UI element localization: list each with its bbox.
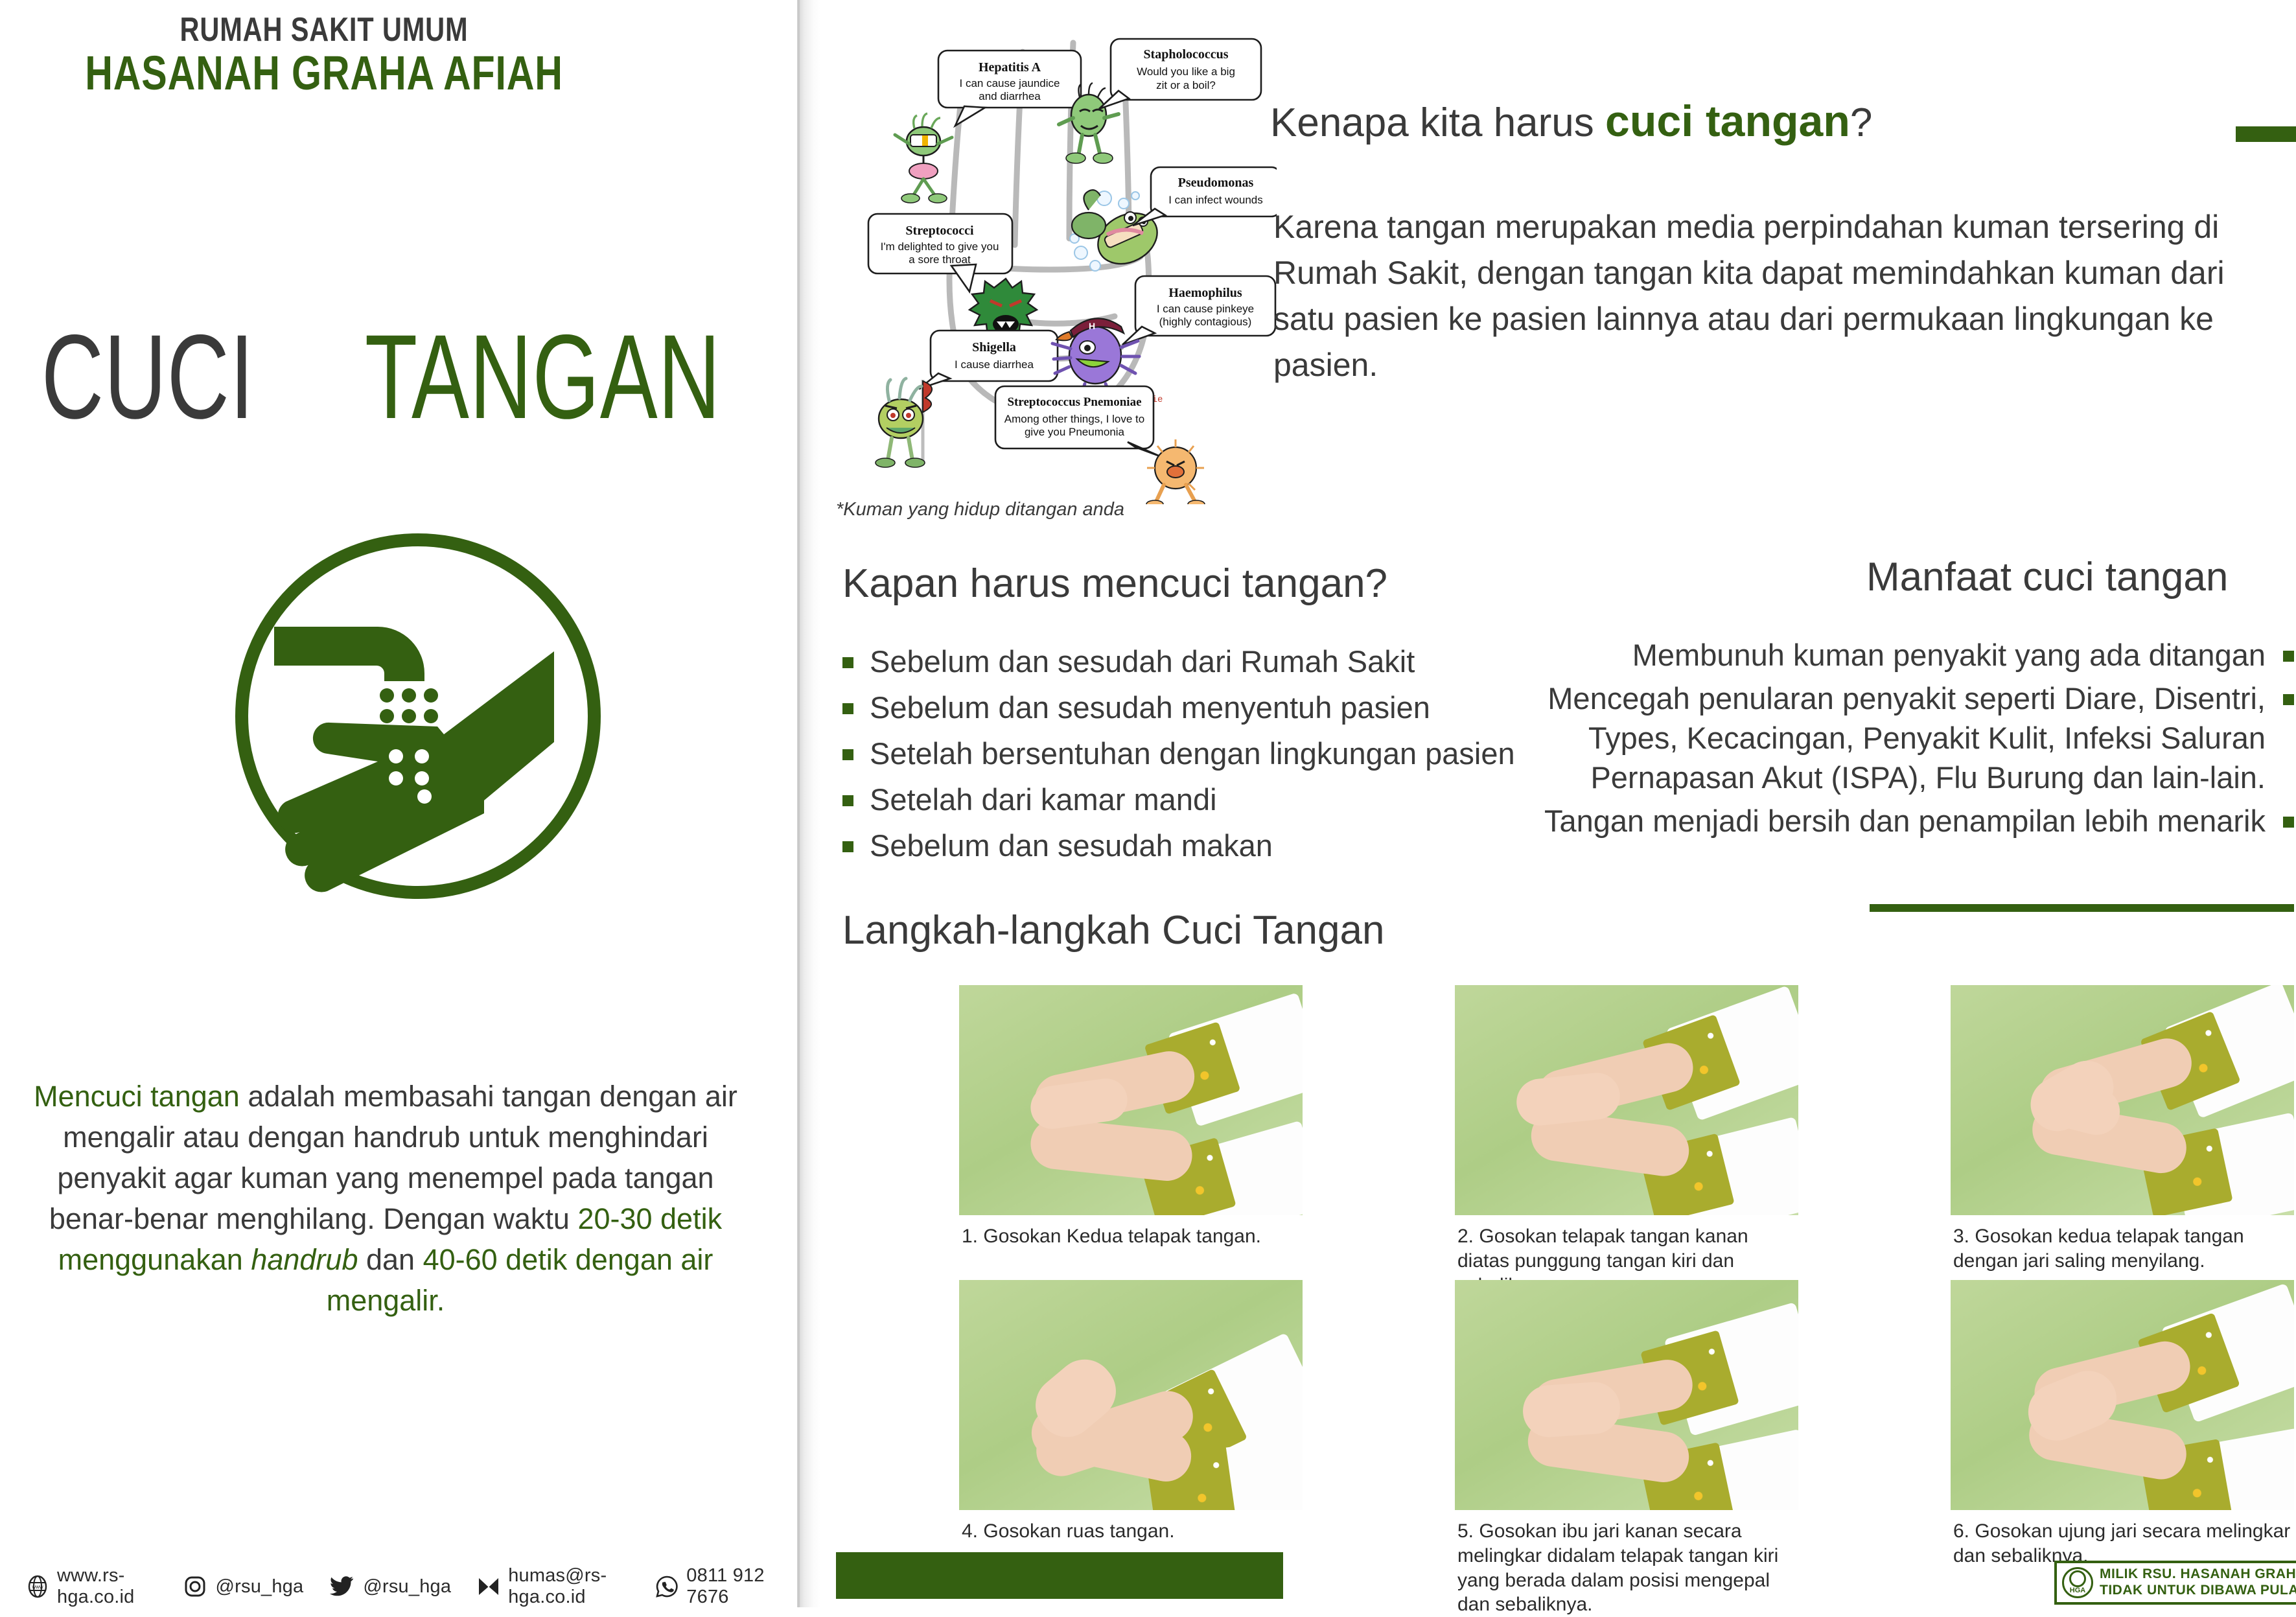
- step-photo-2: [1455, 985, 1798, 1215]
- svg-text:Shigella: Shigella: [972, 340, 1016, 355]
- title-cuci: CUCI: [41, 318, 254, 437]
- contact-instagram[interactable]: @rsu_hga: [182, 1574, 304, 1600]
- list-item: Tangan menjadi bersih dan penampilan leb…: [1452, 801, 2294, 841]
- step-caption-3: 3. Gosokan kedua telapak tangan dengan j…: [1951, 1224, 2294, 1274]
- svg-text:give you Pneumonia: give you Pneumonia: [1025, 426, 1125, 438]
- why-body: Karena tangan merupakan media perpindaha…: [1273, 204, 2239, 388]
- why-heading-tail: ?: [1850, 100, 1872, 145]
- benefits-heading: Manfaat cuci tangan: [1866, 554, 2228, 600]
- svg-text:I'm delighted to give you: I'm delighted to give you: [881, 240, 999, 253]
- contact-twitter[interactable]: @rsu_hga: [329, 1574, 451, 1600]
- title-tangan: TANGAN: [365, 318, 721, 437]
- svg-text:I can infect wounds: I can infect wounds: [1168, 194, 1263, 206]
- benefits-underline-rule: [1870, 904, 2294, 912]
- hga-seal-text: HGA: [2070, 1587, 2085, 1594]
- contact-website-text: www.rs-hga.co.id: [57, 1565, 156, 1608]
- handwashing-icon: [230, 528, 606, 904]
- step-photo-1: [959, 985, 1303, 1215]
- step-photo-4: [959, 1280, 1303, 1510]
- intro-paragraph: Mencuci tangan adalah membasahi tangan d…: [13, 1076, 758, 1321]
- hospital-name-line2: HASANAH GRAHA AFIAH: [65, 49, 583, 97]
- contact-website[interactable]: www www.rs-hga.co.id: [26, 1565, 156, 1608]
- list-item: Membunuh kuman penyakit yang ada ditanga…: [1452, 635, 2294, 675]
- why-heading-plain: Kenapa kita harus: [1270, 100, 1605, 145]
- page-fold-line: [798, 0, 800, 1607]
- svg-text:(highly contagious): (highly contagious): [1159, 316, 1252, 328]
- contact-whatsapp[interactable]: 0811 912 7676: [655, 1565, 771, 1608]
- contact-email[interactable]: humas@rs-hga.co.id: [477, 1565, 629, 1608]
- top-accent-bar: [2236, 126, 2296, 142]
- step-2: 2. Gosokan telapak tangan kanan diatas p…: [1455, 985, 1798, 1297]
- svg-text:a sore throat: a sore throat: [909, 253, 971, 266]
- whatsapp-icon: [655, 1574, 678, 1600]
- step-photo-5: [1455, 1280, 1798, 1510]
- left-panel: RUMAH SAKIT UMUM HASANAH GRAHA AFIAH CUC…: [0, 0, 797, 1607]
- germ-cartoon-image: Hepatitis A I can cause jaundice and dia…: [836, 12, 1277, 504]
- svg-text:Would you like a big: Would you like a big: [1137, 65, 1235, 78]
- svg-text:www: www: [31, 1584, 43, 1590]
- hospital-brand: RUMAH SAKIT UMUM HASANAH GRAHA AFIAH: [0, 13, 648, 98]
- svg-text:Streptococci: Streptococci: [905, 224, 974, 238]
- contact-email-text: humas@rs-hga.co.id: [508, 1565, 629, 1608]
- step-1: 1. Gosokan Kedua telapak tangan.: [959, 985, 1303, 1249]
- ownership-badge: HGA MILIK RSU. HASANAH GRAHA AFIAH TIDAK…: [2054, 1561, 2296, 1605]
- svg-text:I cause diarrhea: I cause diarrhea: [955, 358, 1034, 371]
- svg-text:zit or a boil?: zit or a boil?: [1156, 79, 1216, 91]
- step-photo-3: [1951, 985, 2294, 1215]
- contact-whatsapp-text: 0811 912 7676: [686, 1565, 771, 1608]
- contact-twitter-text: @rsu_hga: [363, 1576, 451, 1598]
- hospital-name-line1: RUMAH SAKIT UMUM: [65, 13, 583, 47]
- benefits-list: Membunuh kuman penyakit yang ada ditanga…: [1452, 635, 2294, 844]
- page-gutter: [797, 0, 820, 1607]
- step-caption-1: 1. Gosokan Kedua telapak tangan.: [959, 1224, 1303, 1249]
- svg-text:I can cause jaundice: I can cause jaundice: [960, 77, 1060, 89]
- list-item: Mencegah penularan penyakit seperti Diar…: [1452, 679, 2294, 797]
- svg-text:Haemophilus: Haemophilus: [1168, 286, 1242, 300]
- step-4: 4. Gosokan ruas tangan.: [959, 1280, 1303, 1544]
- svg-text:Pseudomonas: Pseudomonas: [1178, 176, 1254, 190]
- steps-heading: Langkah-langkah Cuci Tangan: [842, 907, 1385, 953]
- globe-icon: www: [26, 1574, 49, 1600]
- bottom-accent-bar: [836, 1552, 1283, 1599]
- when-heading: Kapan harus mencuci tangan?: [842, 561, 1387, 607]
- contact-instagram-text: @rsu_hga: [216, 1576, 304, 1598]
- svg-text:and diarrhea: and diarrhea: [979, 90, 1041, 102]
- svg-text:I can cause pinkeye: I can cause pinkeye: [1157, 303, 1254, 315]
- step-caption-5: 5. Gosokan ibu jari kanan secara melingk…: [1455, 1519, 1798, 1617]
- step-caption-4: 4. Gosokan ruas tangan.: [959, 1519, 1303, 1544]
- svg-text:Stapholococcus: Stapholococcus: [1143, 47, 1228, 62]
- step-photo-6: [1951, 1280, 2294, 1510]
- ownership-badge-line1: MILIK RSU. HASANAH GRAHA AFIAH: [2100, 1566, 2296, 1583]
- step-5: 5. Gosokan ibu jari kanan secara melingk…: [1455, 1280, 1798, 1617]
- svg-text:H: H: [1089, 321, 1095, 331]
- ownership-badge-text: MILIK RSU. HASANAH GRAHA AFIAH TIDAK UNT…: [2100, 1566, 2296, 1599]
- why-heading-highlight: cuci tangan: [1605, 97, 1850, 146]
- instagram-icon: [182, 1574, 208, 1600]
- email-icon: [477, 1574, 500, 1600]
- hga-seal-inner: [2069, 1570, 2086, 1587]
- svg-text:Hepatitis A: Hepatitis A: [979, 60, 1041, 75]
- poster-root: RUMAH SAKIT UMUM HASANAH GRAHA AFIAH CUC…: [0, 0, 2296, 1607]
- intro-highlight-handrub: handrub: [251, 1243, 358, 1276]
- footer-contacts: www www.rs-hga.co.id @rsu_hga @rsu_hga: [26, 1565, 797, 1608]
- why-heading: Kenapa kita harus cuci tangan?: [1270, 96, 1872, 146]
- step-6: 6. Gosokan ujung jari secara melingkar d…: [1951, 1280, 2294, 1568]
- page-title: CUCI TANGAN: [0, 318, 765, 437]
- hga-seal-icon: HGA: [2062, 1567, 2093, 1598]
- step-3: 3. Gosokan kedua telapak tangan dengan j…: [1951, 985, 2294, 1274]
- germ-image-caption: *Kuman yang hidup ditangan anda: [836, 499, 1124, 520]
- svg-text:Among other things, I love to: Among other things, I love to: [1004, 413, 1144, 425]
- twitter-icon: [329, 1574, 355, 1600]
- svg-text:Streptococcus Pnemoniae: Streptococcus Pnemoniae: [1007, 395, 1141, 409]
- intro-highlight-1: Mencuci tangan: [34, 1080, 240, 1113]
- ownership-badge-line2: TIDAK UNTUK DIBAWA PULANG: [2100, 1583, 2296, 1599]
- intro-text-2: dan: [358, 1243, 423, 1276]
